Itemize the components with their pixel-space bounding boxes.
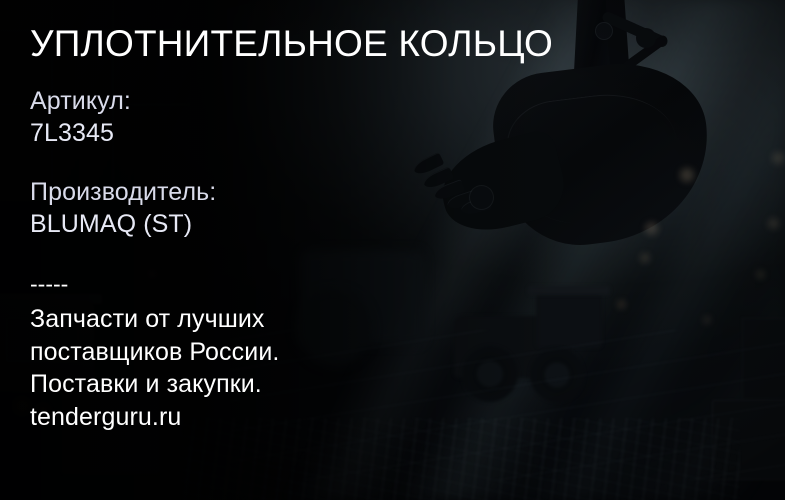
product-banner: УПЛОТНИТЕЛЬНОЕ КОЛЬЦО Артикул: 7L3345 Пр…: [0, 0, 785, 500]
manufacturer-field: Производитель: BLUMAQ (ST): [30, 176, 216, 240]
bokeh-light: [640, 253, 650, 263]
bokeh-light: [756, 270, 765, 279]
sku-field: Артикул: 7L3345: [30, 85, 131, 149]
excavator-pivot-pin-upper: [596, 23, 612, 39]
tagline-block: Запчасти от лучших поставщиков России. П…: [30, 303, 279, 433]
sku-value: 7L3345: [30, 117, 131, 149]
divider: -----: [30, 272, 68, 296]
banner-content: УПЛОТНИТЕЛЬНОЕ КОЛЬЦО Артикул: 7L3345 Пр…: [30, 0, 590, 500]
tagline-line: поставщиков России.: [30, 336, 279, 369]
bokeh-light: [768, 218, 779, 229]
tagline-line: Запчасти от лучших: [30, 303, 279, 336]
bokeh-light: [703, 316, 711, 324]
sku-label: Артикул:: [30, 85, 131, 117]
tagline-line: Поставки и закупки.: [30, 368, 279, 401]
bokeh-light: [772, 152, 784, 164]
page-title: УПЛОТНИТЕЛЬНОЕ КОЛЬЦО: [30, 22, 553, 66]
bokeh-light: [645, 222, 658, 235]
manufacturer-value: BLUMAQ (ST): [30, 208, 216, 240]
bokeh-light: [680, 168, 694, 182]
site-url: tenderguru.ru: [30, 401, 279, 434]
bokeh-light: [16, 400, 28, 412]
excavator-pivot-pin-right: [636, 28, 656, 48]
bokeh-light: [617, 300, 626, 309]
manufacturer-label: Производитель:: [30, 176, 216, 208]
